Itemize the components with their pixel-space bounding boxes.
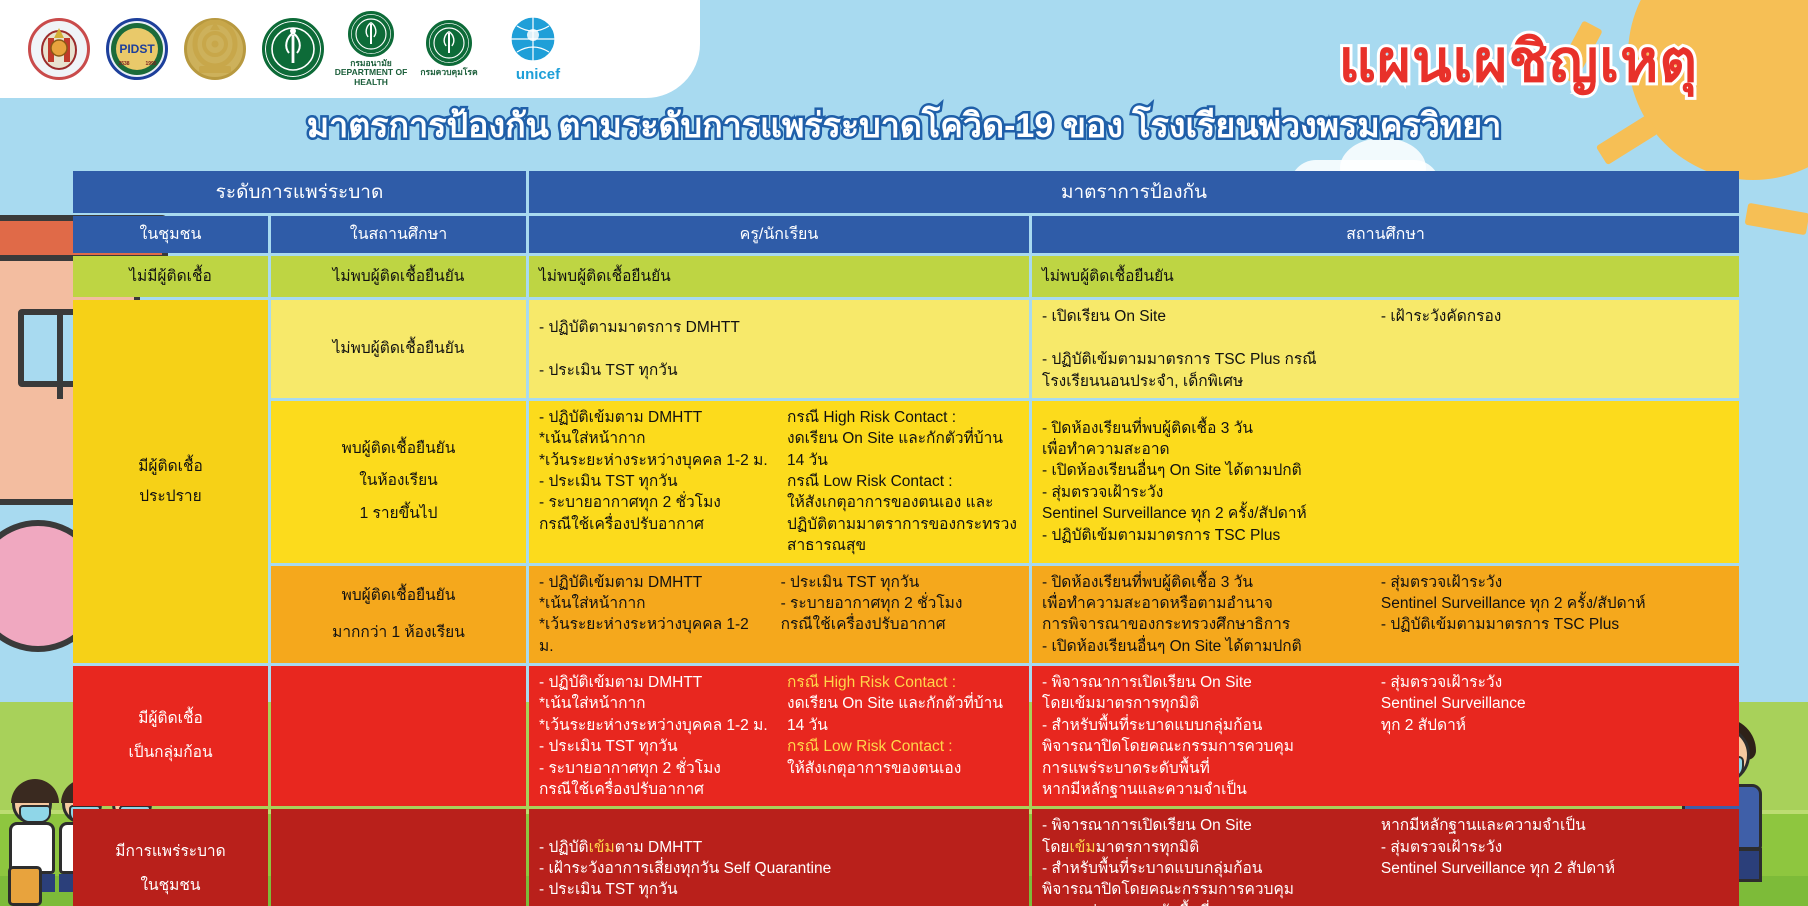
institution-yellow1-right: - เฝ้าระวังคัดกรอง — [1381, 306, 1729, 392]
unicef-wordmark: unicef — [516, 67, 560, 84]
ts-red-left: - ปฏิบัติเข้มตาม DMHTT *เน้นใส่หน้ากาก *… — [539, 672, 771, 800]
group-header-spread-level: ระดับการแพร่ระบาด — [73, 171, 526, 213]
inst-dkred-rest: - สำหรับพื้นที่ระบาดแบบกลุ่มก้อน พิจารณา… — [1042, 858, 1365, 906]
inst-dkred-left: - พิจารณาการเปิดเรียน On Site โดยเข้มมาต… — [1042, 815, 1365, 906]
svg-text:1995: 1995 — [145, 61, 156, 67]
col-header-teacher-student: ครู/นักเรียน — [529, 216, 1029, 253]
cell-community-green: ไม่มีผู้ติดเชื้อ — [73, 256, 268, 297]
inst-red-right: - สุ่มตรวจเฝ้าระวัง Sentinel Surveillanc… — [1381, 672, 1729, 800]
col-header-school: ในสถานศึกษา — [271, 216, 526, 253]
page-title: แผนเผชิญเหตุ — [1339, 14, 1698, 107]
department-of-health-caption: กรมอนามัย DEPARTMENT OF HEALTH — [334, 59, 408, 87]
table-sub-header-row: ในชุมชน ในสถานศึกษา ครู/นักเรียน สถานศึก… — [73, 216, 1739, 253]
ts-yellow2-left: - ปฏิบัติเข้มตาม DMHTT *เน้นใส่หน้ากาก *… — [539, 407, 771, 557]
cell-teacher-student-yellow2: - ปฏิบัติเข้มตาม DMHTT *เน้นใส่หน้ากาก *… — [529, 401, 1029, 563]
table-row: พบผู้ติดเชื้อยืนยัน มากกว่า 1 ห้องเรียน … — [73, 566, 1739, 664]
ts-red-high-risk-label: กรณี High Risk Contact : — [787, 672, 1019, 693]
inst-orange-left: - ปิดห้องเรียนที่พบผู้ติดเชื้อ 3 วัน เพื… — [1042, 572, 1365, 658]
ts-dkred-a: - ปฏิบัติ — [539, 839, 589, 856]
poster-root: PIDST 2538 1995 — [0, 0, 1808, 906]
table-row: มีการแพร่ระบาด ในชุมชน - ปฏิบัติเข้มตาม … — [73, 809, 1739, 906]
ts-dkred-rest: - เฝ้าระวังอาการเสี่ยงทุกวัน Self Quaran… — [539, 858, 1019, 901]
cell-teacher-student-orange: - ปฏิบัติเข้มตาม DMHTT *เน้นใส่หน้ากาก *… — [529, 566, 1029, 664]
ts-red-low-risk-label: กรณี Low Risk Contact : — [787, 736, 1019, 757]
cell-institution-yellow1: - เปิดเรียน On Site - ปฏิบัติเข้มตามมาตร… — [1032, 300, 1739, 398]
logo-strip: PIDST 2538 1995 — [0, 0, 700, 98]
inst-red-left: - พิจารณาการเปิดเรียน On Site โดยเข้มมาต… — [1042, 672, 1365, 800]
measures-table-wrapper: ระดับการแพร่ระบาด มาตราการป้องกัน ในชุมช… — [70, 168, 1742, 906]
ts-dkred-b: ตาม DMHTT — [615, 839, 703, 856]
department-of-disease-control-logo-icon: กรมควบคุมโรค — [412, 8, 486, 90]
unicef-logo-icon: unicef — [490, 8, 586, 90]
cell-community-cluster: มีผู้ติดเชื้อ เป็นกลุ่มก้อน — [73, 666, 268, 806]
cell-community-outbreak: มีการแพร่ระบาด ในชุมชน — [73, 809, 268, 906]
ts-orange-right: - ประเมิน TST ทุกวัน - ระบายอากาศทุก 2 ช… — [781, 572, 1019, 658]
ts-red-low-risk-text: ให้สังเกตุอาการของตนเอง — [787, 758, 1019, 779]
table-group-header-row: ระดับการแพร่ระบาด มาตราการป้องกัน — [73, 171, 1739, 213]
cell-teacher-student-red: - ปฏิบัติเข้มตาม DMHTT *เน้นใส่หน้ากาก *… — [529, 666, 1029, 806]
department-of-disease-control-caption: กรมควบคุมโรค — [420, 68, 477, 77]
cell-institution-yellow2: - ปิดห้องเรียนที่พบผู้ติดเชื้อ 3 วัน เพื… — [1032, 401, 1739, 563]
measures-table: ระดับการแพร่ระบาด มาตราการป้องกัน ในชุมช… — [70, 168, 1742, 906]
cell-institution-orange: - ปิดห้องเรียนที่พบผู้ติดเชื้อ 3 วัน เพื… — [1032, 566, 1739, 664]
table-row: ไม่มีผู้ติดเชื้อ ไม่พบผู้ติดเชื้อยืนยัน … — [73, 256, 1739, 297]
page-subtitle: มาตรการป้องกัน ตามระดับการแพร่ระบาดโควิด… — [0, 98, 1808, 152]
table-row: พบผู้ติดเชื้อยืนยัน ในห้องเรียน 1 รายขึ้… — [73, 401, 1739, 563]
inst-dkred-highlight: เข้ม — [1069, 839, 1095, 856]
cell-school-green: ไม่พบผู้ติดเชื้อยืนยัน — [271, 256, 526, 297]
cell-school-red — [271, 666, 526, 806]
cell-institution-red: - พิจารณาการเปิดเรียน On Site โดยเข้มมาต… — [1032, 666, 1739, 806]
ministry-of-public-health-logo-icon — [256, 8, 330, 90]
col-header-institution: สถานศึกษา — [1032, 216, 1739, 253]
table-row: มีผู้ติดเชื้อ เป็นกลุ่มก้อน - ปฏิบัติเข้… — [73, 666, 1739, 806]
cell-school-orange: พบผู้ติดเชื้อยืนยัน มากกว่า 1 ห้องเรียน — [271, 566, 526, 664]
cell-school-dark-red — [271, 809, 526, 906]
cell-school-yellow1: ไม่พบผู้ติดเชื้อยืนยัน — [271, 300, 526, 398]
inst-dkred-right: หากมีหลักฐานและความจำเป็น - สุ่มตรวจเฝ้า… — [1381, 815, 1729, 906]
ts-yellow2-right: กรณี High Risk Contact : งดเรียน On Site… — [787, 407, 1019, 557]
institution-yellow1-left: - เปิดเรียน On Site - ปฏิบัติเข้มตามมาตร… — [1042, 306, 1365, 392]
pidst-logo-icon: PIDST 2538 1995 — [100, 8, 174, 90]
inst-orange-right: - สุ่มตรวจเฝ้าระวัง Sentinel Surveillanc… — [1381, 572, 1729, 658]
cell-community-sporadic: มีผู้ติดเชื้อ ประปราย — [73, 300, 268, 663]
schoolbag-icon — [8, 866, 42, 906]
thai-royal-emblem-icon — [22, 8, 96, 90]
ts-dkred-highlight: เข้ม — [589, 839, 615, 856]
svg-text:PIDST: PIDST — [119, 42, 155, 56]
ts-orange-left: - ปฏิบัติเข้มตาม DMHTT *เน้นใส่หน้ากาก *… — [539, 572, 765, 658]
cell-teacher-student-yellow1: - ปฏิบัติตามมาตรการ DMHTT - ประเมิน TST … — [529, 300, 1029, 398]
ts-red-right: กรณี High Risk Contact : งดเรียน On Site… — [787, 672, 1019, 800]
cell-school-yellow2: พบผู้ติดเชื้อยืนยัน ในห้องเรียน 1 รายขึ้… — [271, 401, 526, 563]
inst-dkred-b: มาตรการทุกมิติ — [1096, 839, 1200, 856]
cell-teacher-student-dark-red: - ปฏิบัติเข้มตาม DMHTT - เฝ้าระวังอาการเ… — [529, 809, 1029, 906]
table-row: มีผู้ติดเชื้อ ประปราย ไม่พบผู้ติดเชื้อยื… — [73, 300, 1739, 398]
ts-dkred-line1: - ปฏิบัติเข้มตาม DMHTT — [539, 837, 1019, 858]
ts-red-high-risk-text: งดเรียน On Site และกักตัวที่บ้าน 14 วัน — [787, 693, 1019, 736]
col-header-community: ในชุมชน — [73, 216, 268, 253]
cell-teacher-student-green: ไม่พบผู้ติดเชื้อยืนยัน — [529, 256, 1029, 297]
department-of-health-logo-icon: กรมอนามัย DEPARTMENT OF HEALTH — [334, 8, 408, 90]
group-header-measures: มาตราการป้องกัน — [529, 171, 1739, 213]
cell-institution-dark-red: - พิจารณาการเปิดเรียน On Site โดยเข้มมาต… — [1032, 809, 1739, 906]
royal-college-logo-icon — [178, 8, 252, 90]
cell-institution-green: ไม่พบผู้ติดเชื้อยืนยัน — [1032, 256, 1739, 297]
svg-text:2538: 2538 — [118, 61, 129, 67]
